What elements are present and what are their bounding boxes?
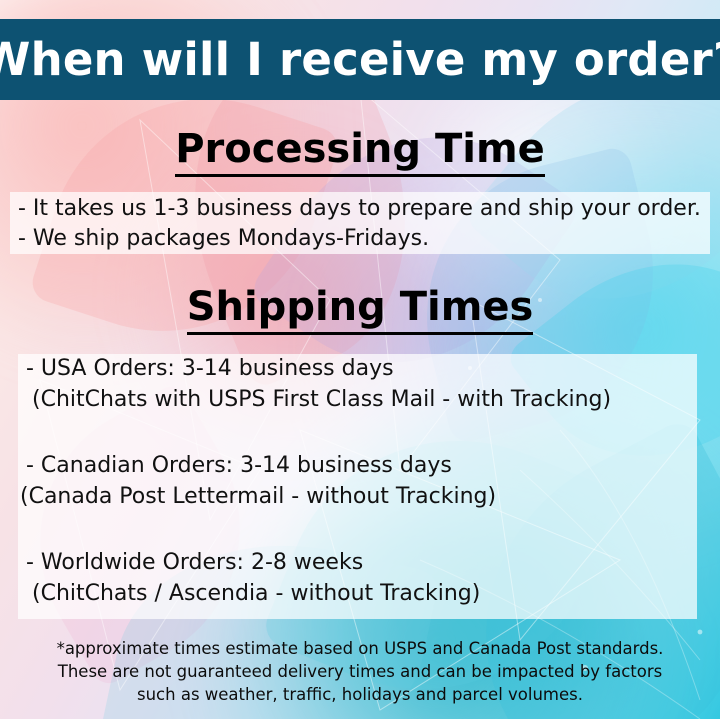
shipping-entry-usa-line-1: - USA Orders: 3-14 business days <box>26 356 394 381</box>
shipping-entry-worldwide-line-1: - Worldwide Orders: 2-8 weeks <box>26 550 363 575</box>
footnote-line-1: *approximate times estimate based on USP… <box>0 637 720 660</box>
page-title: When will I receive my order? <box>0 33 720 86</box>
footnote-line-3: such as weather, traffic, holidays and p… <box>0 683 720 706</box>
section-heading-shipping-times-label: Shipping Times <box>187 284 534 335</box>
processing-time-line-1: - It takes us 1-3 business days to prepa… <box>18 196 701 221</box>
section-heading-processing-time: Processing Time <box>0 126 720 172</box>
section-heading-shipping-times: Shipping Times <box>0 284 720 330</box>
section-heading-processing-time-label: Processing Time <box>175 126 545 177</box>
shipping-entry-canada-line-1: - Canadian Orders: 3-14 business days <box>26 453 452 478</box>
shipping-entry-worldwide-line-2: (ChitChats / Ascendia - without Tracking… <box>32 581 480 606</box>
faq-infographic: When will I receive my order? Processing… <box>0 0 720 719</box>
shipping-entry-canada-line-2: (Canada Post Lettermail - without Tracki… <box>20 484 496 509</box>
footnote: *approximate times estimate based on USP… <box>0 637 720 706</box>
shipping-entry-usa-line-2: (ChitChats with USPS First Class Mail - … <box>32 387 611 412</box>
processing-time-line-2: - We ship packages Mondays-Fridays. <box>18 226 429 251</box>
footnote-line-2: These are not guaranteed delivery times … <box>0 660 720 683</box>
header-banner: When will I receive my order? <box>0 19 720 100</box>
